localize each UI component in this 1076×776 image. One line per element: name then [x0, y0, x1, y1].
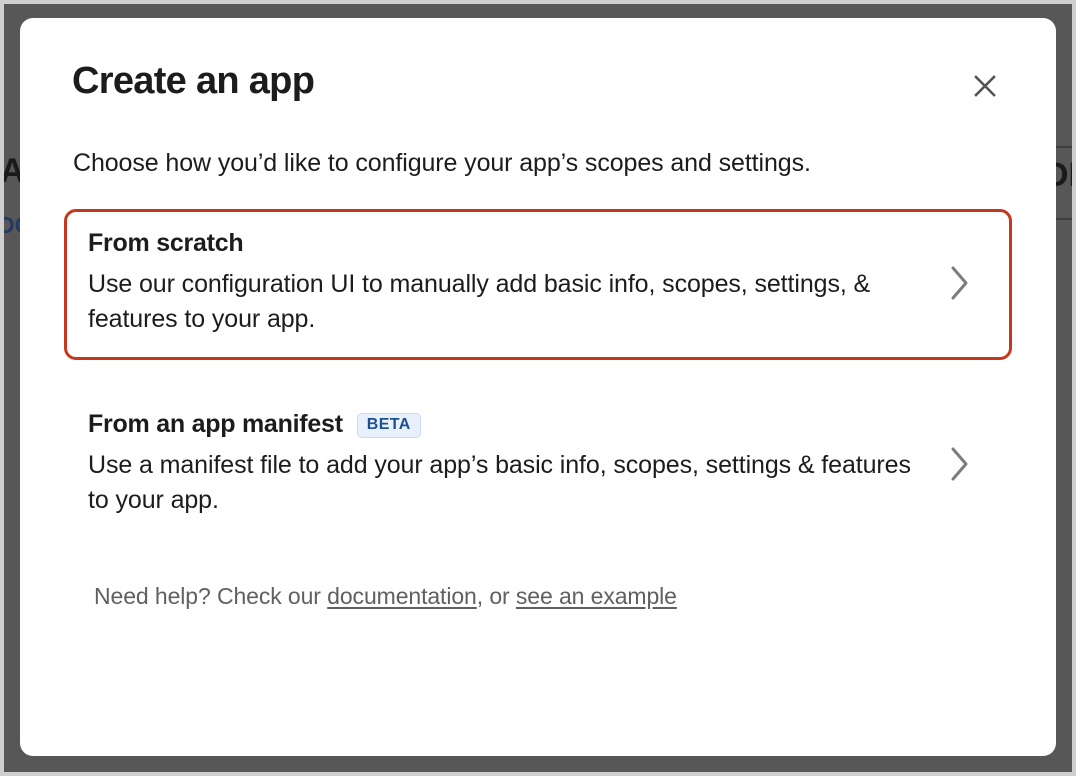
- footer-help-middle: , or: [477, 583, 516, 609]
- chevron-right-icon: [943, 258, 977, 308]
- footer-help-prefix: Need help? Check our: [94, 583, 327, 609]
- option-from-app-manifest-title-line: From an app manifest BETA: [88, 410, 919, 439]
- option-from-scratch-title-line: From scratch: [88, 229, 919, 258]
- status-badge-beta: BETA: [357, 413, 421, 438]
- option-from-app-manifest[interactable]: From an app manifest BETA Use a manifest…: [64, 392, 1012, 541]
- option-from-app-manifest-title: From an app manifest: [88, 410, 343, 439]
- see-an-example-link[interactable]: see an example: [516, 583, 677, 609]
- create-an-app-modal: Create an app Choose how you’d like to c…: [20, 18, 1056, 756]
- documentation-link[interactable]: documentation: [327, 583, 477, 609]
- option-from-scratch[interactable]: From scratch Use our configuration UI to…: [64, 209, 1012, 360]
- chevron-right-icon: [943, 439, 977, 489]
- app-creation-options-list: From scratch Use our configuration UI to…: [64, 209, 1012, 541]
- modal-subtitle: Choose how you’d like to configure your …: [73, 147, 1012, 181]
- modal-footer-help: Need help? Check our documentation, or s…: [94, 583, 1012, 610]
- option-from-scratch-title: From scratch: [88, 229, 243, 258]
- modal-header: Create an app: [64, 60, 1012, 105]
- close-icon: [972, 73, 998, 99]
- option-from-scratch-description: Use our configuration UI to manually add…: [88, 267, 918, 338]
- option-from-app-manifest-description: Use a manifest file to add your app’s ba…: [88, 448, 918, 519]
- page-title: Create an app: [72, 60, 314, 103]
- option-from-app-manifest-body: From an app manifest BETA Use a manifest…: [88, 410, 919, 519]
- close-button[interactable]: [966, 67, 1004, 105]
- option-from-scratch-body: From scratch Use our configuration UI to…: [88, 229, 919, 338]
